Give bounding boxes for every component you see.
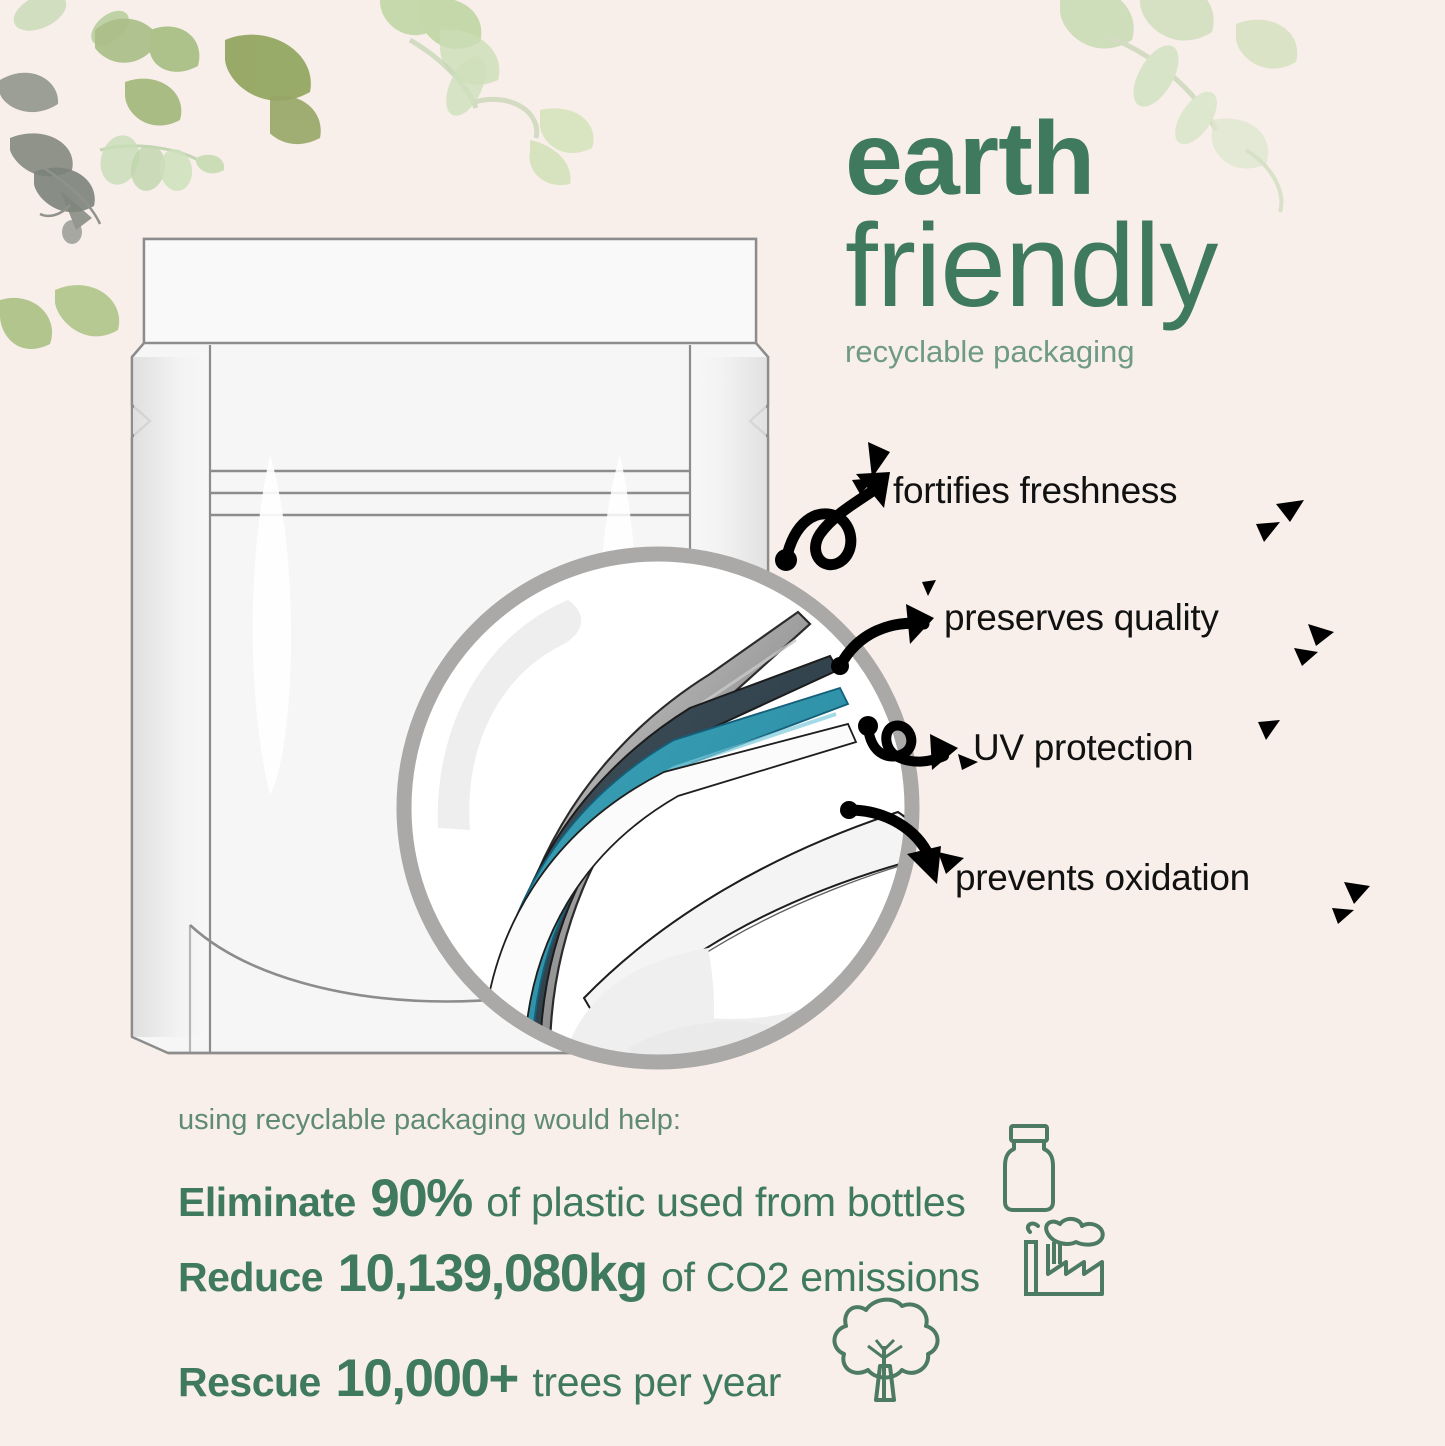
stat-lead: Rescue — [178, 1359, 321, 1405]
bottle-icon — [997, 1122, 1061, 1214]
stat-lead: Reduce — [178, 1254, 323, 1300]
page-title: earth friendly recyclable packaging — [845, 112, 1405, 370]
stat-tail: trees per year — [532, 1359, 781, 1405]
headline-line-2: friendly — [845, 210, 1405, 323]
sparkle-accent-icon — [1244, 718, 1294, 768]
sparkle-accent-icon — [1288, 618, 1348, 678]
tree-icon — [818, 1288, 948, 1418]
infographic-canvas: earth friendly recyclable packaging fort… — [0, 0, 1445, 1446]
factory-icon — [1018, 1216, 1114, 1306]
stats-intro-text: using recyclable packaging would help: — [178, 1104, 681, 1137]
stat-value: 10,139,080kg — [338, 1244, 647, 1303]
feature-label-prevents-oxidation: prevents oxidation — [955, 857, 1250, 899]
foliage-decoration-top — [270, 0, 730, 190]
sparkle-accent-icon — [1252, 498, 1322, 558]
stat-row: Eliminate 90% of plastic used from bottl… — [178, 1168, 966, 1229]
stat-lead: Eliminate — [178, 1179, 356, 1225]
feature-label-preserves-quality: preserves quality — [944, 597, 1219, 639]
feature-label-fortifies-freshness: fortifies freshness — [893, 470, 1177, 512]
stat-row: Rescue 10,000+ trees per year — [178, 1348, 781, 1409]
headline-subtitle: recyclable packaging — [845, 333, 1405, 370]
sparkle-accent-icon — [1324, 878, 1384, 938]
feature-label-uv-protection: UV protection — [973, 727, 1193, 769]
stat-tail: of plastic used from bottles — [486, 1179, 965, 1225]
headline-line-1: earth — [845, 112, 1405, 208]
stat-value: 90% — [370, 1169, 472, 1228]
stat-value: 10,000+ — [335, 1349, 518, 1408]
